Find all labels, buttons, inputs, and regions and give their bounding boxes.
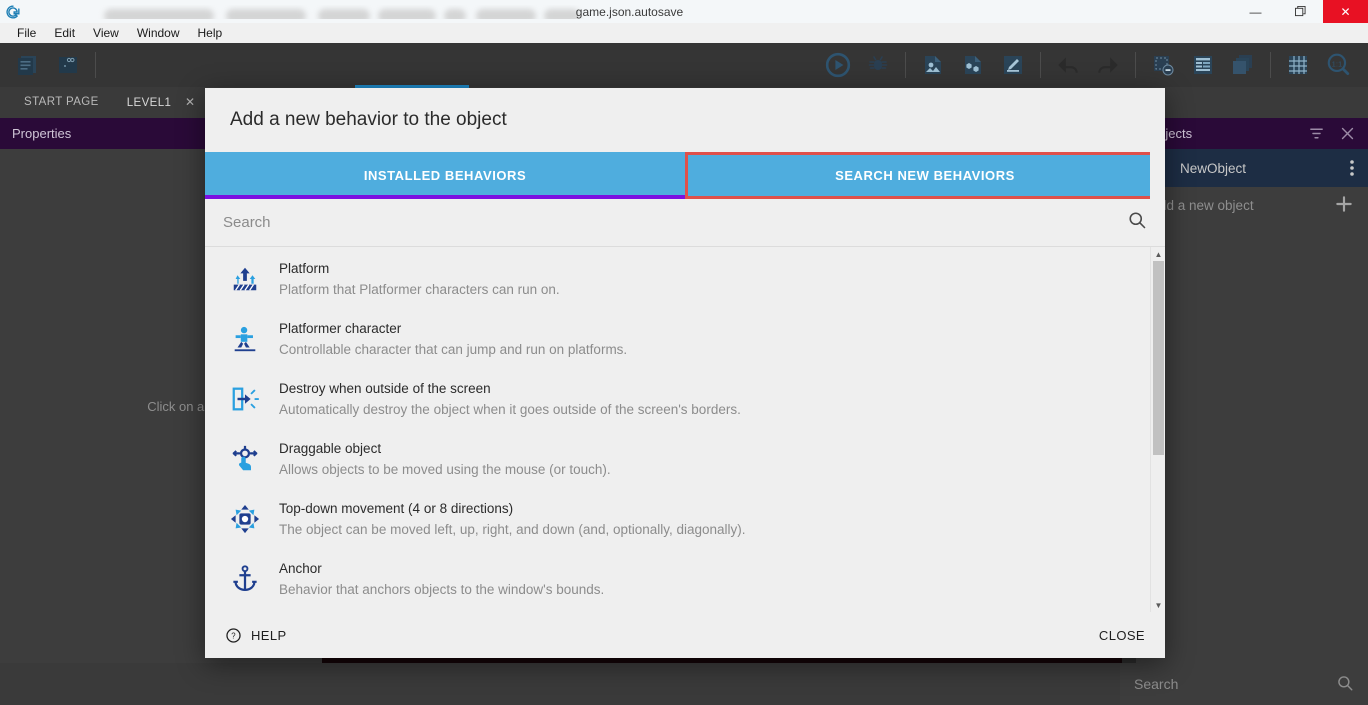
layers-list-icon[interactable] [1226, 48, 1260, 82]
close-button[interactable]: ✕ [1323, 0, 1368, 23]
toolbar-right-group: 1:1 [818, 48, 1368, 82]
behavior-list[interactable]: Platform Platform that Platformer charac… [205, 247, 1165, 612]
minimize-button[interactable]: — [1233, 0, 1278, 23]
behavior-name: Draggable object [279, 439, 611, 459]
title-bar: game.json.autosave — ✕ [0, 0, 1368, 23]
project-manager-icon[interactable] [11, 48, 45, 82]
zoom-reset-icon[interactable]: 1:1 [1321, 48, 1355, 82]
top-down-movement-icon [225, 499, 265, 539]
debug-bug-icon[interactable] [861, 48, 895, 82]
behavior-list-item[interactable]: Platform Platform that Platformer charac… [205, 247, 1165, 307]
behavior-search-input[interactable] [223, 214, 1127, 231]
tab-level1-close-icon[interactable]: ✕ [185, 95, 195, 109]
add-new-object-label: Add a new object [1150, 198, 1254, 213]
tab-start-page[interactable]: START PAGE [10, 87, 113, 118]
behavior-description: Allows objects to be moved using the mou… [279, 459, 611, 480]
open-scene-icon[interactable] [916, 48, 950, 82]
object-list-item[interactable]: NewObject [1136, 149, 1368, 187]
behavior-search-bar[interactable] [205, 199, 1165, 247]
dialog-tab-bar: INSTALLED BEHAVIORS SEARCH NEW BEHAVIORS [205, 152, 1165, 199]
toolbar-separator [1270, 52, 1271, 78]
tab-start-page-label: START PAGE [24, 96, 99, 108]
toolbar-separator [95, 52, 96, 78]
toggle-mask-icon[interactable] [1146, 48, 1180, 82]
behavior-name: Top-down movement (4 or 8 directions) [279, 499, 746, 519]
bottom-search-field[interactable]: Search [1120, 663, 1368, 705]
menu-item-file[interactable]: File [8, 23, 45, 43]
draggable-object-icon [225, 439, 265, 479]
window-controls: — ✕ [1233, 0, 1368, 23]
search-icon[interactable] [1336, 674, 1354, 695]
tab-level1[interactable]: LEVEL1 ✕ [113, 87, 210, 119]
toolbar-separator [1040, 52, 1041, 78]
platformer-character-icon [225, 319, 265, 359]
toolbar-left-group [0, 48, 103, 82]
behavior-description: The object can be moved left, up, right,… [279, 519, 746, 540]
behavior-list-item[interactable]: Top-down movement (4 or 8 directions) Th… [205, 487, 1165, 547]
filter-icon[interactable] [1308, 125, 1325, 142]
behavior-name: Platformer character [279, 319, 627, 339]
objects-list-icon[interactable] [1186, 48, 1220, 82]
behavior-description: Behavior that anchors objects to the win… [279, 579, 604, 600]
plus-icon[interactable] [1334, 194, 1354, 217]
restore-button[interactable] [1278, 0, 1323, 23]
application-window: game.json.autosave — ✕ File Edit View Wi… [0, 0, 1368, 705]
tab-search-new-behaviors[interactable]: SEARCH NEW BEHAVIORS [685, 152, 1165, 199]
main-toolbar: 1:1 [0, 43, 1368, 87]
behavior-list-scrollbar[interactable]: ▲ ▼ [1150, 247, 1165, 612]
menu-item-view[interactable]: View [84, 23, 128, 43]
behavior-text: Anchor Behavior that anchors objects to … [265, 557, 604, 600]
behavior-list-item[interactable]: Destroy when outside of the screen Autom… [205, 367, 1165, 427]
behavior-text: Destroy when outside of the screen Autom… [265, 377, 741, 420]
search-icon[interactable] [1127, 210, 1147, 235]
dialog-footer: ? HELP CLOSE [205, 612, 1165, 658]
scrollbar-thumb[interactable] [1153, 261, 1164, 455]
behavior-text: Platformer character Controllable charac… [265, 317, 627, 360]
gdevelop-logo-icon [0, 0, 26, 23]
tab-level1-label: LEVEL1 [127, 97, 172, 109]
toolbar-separator [905, 52, 906, 78]
dialog-close-button[interactable]: CLOSE [1099, 628, 1145, 643]
preview-play-icon[interactable] [821, 48, 855, 82]
tab-installed-behaviors[interactable]: INSTALLED BEHAVIORS [205, 152, 685, 199]
bottom-search-placeholder: Search [1134, 676, 1178, 692]
behavior-text: Draggable object Allows objects to be mo… [265, 437, 611, 480]
objects-panel: Objects NewObject Add a new object [1136, 118, 1368, 663]
help-circle-icon: ? [225, 627, 242, 644]
toolbar-separator [1135, 52, 1136, 78]
behavior-name: Platform [279, 259, 560, 279]
menu-bar: File Edit View Window Help [0, 23, 1368, 43]
toggle-grid-icon[interactable] [1281, 48, 1315, 82]
more-vertical-icon[interactable] [1350, 159, 1354, 177]
objects-panel-title: Objects [1148, 126, 1294, 141]
behavior-list-item[interactable]: Platformer character Controllable charac… [205, 307, 1165, 367]
edit-properties-icon[interactable] [996, 48, 1030, 82]
behavior-description: Platform that Platformer characters can … [279, 279, 560, 300]
help-button[interactable]: ? HELP [225, 627, 287, 644]
svg-text:?: ? [231, 631, 236, 640]
dialog-scroll-top-stub [1150, 152, 1165, 199]
redo-icon[interactable] [1091, 48, 1125, 82]
open-objects-icon[interactable] [956, 48, 990, 82]
behavior-list-item[interactable]: Anchor Behavior that anchors objects to … [205, 547, 1165, 607]
tab-search-new-behaviors-label: SEARCH NEW BEHAVIORS [835, 168, 1015, 183]
scroll-up-arrow[interactable]: ▲ [1151, 247, 1165, 261]
behavior-text: Top-down movement (4 or 8 directions) Th… [265, 497, 746, 540]
behavior-text: Platform Platform that Platformer charac… [265, 257, 560, 300]
scene-editor-icon[interactable] [51, 48, 85, 82]
behavior-name: Anchor [279, 559, 604, 579]
close-icon[interactable] [1339, 125, 1356, 142]
object-name: NewObject [1180, 161, 1246, 176]
platform-icon [225, 259, 265, 299]
undo-icon[interactable] [1051, 48, 1085, 82]
dialog-title: Add a new behavior to the object [205, 88, 1165, 152]
destroy-outside-screen-icon [225, 379, 265, 419]
scroll-down-arrow[interactable]: ▼ [1151, 598, 1165, 612]
menu-item-edit[interactable]: Edit [45, 23, 84, 43]
add-behavior-dialog: Add a new behavior to the object INSTALL… [205, 88, 1165, 658]
menu-item-help[interactable]: Help [189, 23, 232, 43]
window-title-text: game.json.autosave [576, 5, 683, 19]
add-new-object-button[interactable]: Add a new object [1136, 187, 1368, 223]
menu-item-window[interactable]: Window [128, 23, 189, 43]
behavior-name: Destroy when outside of the screen [279, 379, 741, 399]
anchor-icon [225, 559, 265, 599]
window-title: game.json.autosave [26, 5, 1233, 19]
help-label: HELP [251, 628, 287, 643]
behavior-description: Controllable character that can jump and… [279, 339, 627, 360]
behavior-list-item[interactable]: Draggable object Allows objects to be mo… [205, 427, 1165, 487]
tab-installed-behaviors-label: INSTALLED BEHAVIORS [364, 168, 526, 183]
svg-text:1:1: 1:1 [1332, 60, 1343, 69]
objects-panel-header: Objects [1136, 118, 1368, 149]
behavior-description: Automatically destroy the object when it… [279, 399, 741, 420]
